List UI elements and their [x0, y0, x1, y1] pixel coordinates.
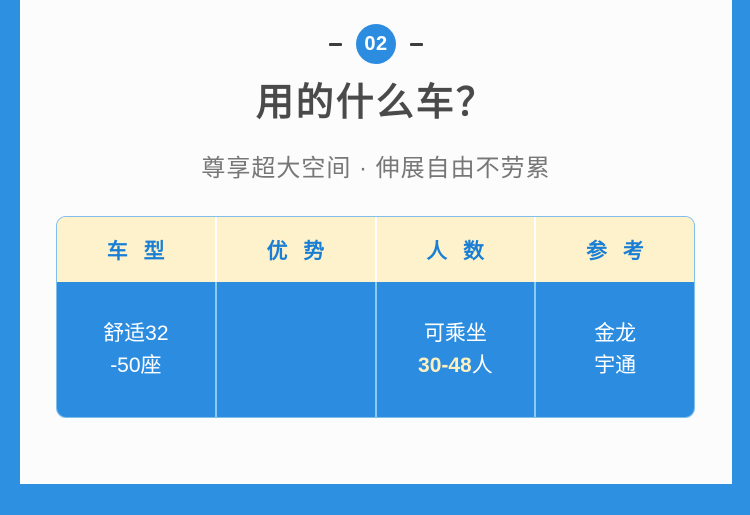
- section-number-badge: 02: [356, 24, 396, 64]
- dash-left-icon: [329, 43, 342, 46]
- section-badge: 02: [20, 24, 732, 64]
- cell-capacity-line1: 可乘坐: [424, 318, 487, 350]
- cell-capacity-suffix: 人: [472, 354, 493, 377]
- column-header-advantage: 优 势: [215, 217, 375, 282]
- page-root: 02 用的什么车？ 尊享超大空间 · 伸展自由不劳累 车 型 优 势 人 数 参…: [0, 0, 750, 515]
- vehicle-spec-table: 车 型 优 势 人 数 参 考 舒适32 -50座 可乘坐 30-48人: [56, 216, 695, 418]
- table-header-row: 车 型 优 势 人 数 参 考: [57, 217, 694, 282]
- cell-capacity-highlight: 30-48: [418, 354, 472, 377]
- cell-reference: 金龙 宇通: [534, 282, 694, 417]
- cell-reference-line2: 宇通: [594, 350, 636, 382]
- cell-capacity-line2: 30-48人: [418, 350, 493, 382]
- cell-model: 舒适32 -50座: [57, 282, 215, 417]
- cell-capacity: 可乘坐 30-48人: [375, 282, 535, 417]
- cell-reference-line1: 金龙: [594, 318, 636, 350]
- column-header-capacity: 人 数: [375, 217, 535, 282]
- page-subtitle: 尊享超大空间 · 伸展自由不劳累: [20, 152, 732, 186]
- cell-model-line2: -50座: [110, 350, 161, 382]
- table-row: 舒适32 -50座 可乘坐 30-48人 金龙 宇通: [57, 282, 694, 417]
- column-header-reference: 参 考: [534, 217, 694, 282]
- dash-right-icon: [410, 43, 423, 46]
- column-header-model: 车 型: [57, 217, 215, 282]
- content-card: 02 用的什么车？ 尊享超大空间 · 伸展自由不劳累 车 型 优 势 人 数 参…: [20, 0, 732, 484]
- cell-model-line1: 舒适32: [103, 318, 168, 350]
- page-title: 用的什么车？: [20, 80, 732, 126]
- cell-advantage: [215, 282, 375, 417]
